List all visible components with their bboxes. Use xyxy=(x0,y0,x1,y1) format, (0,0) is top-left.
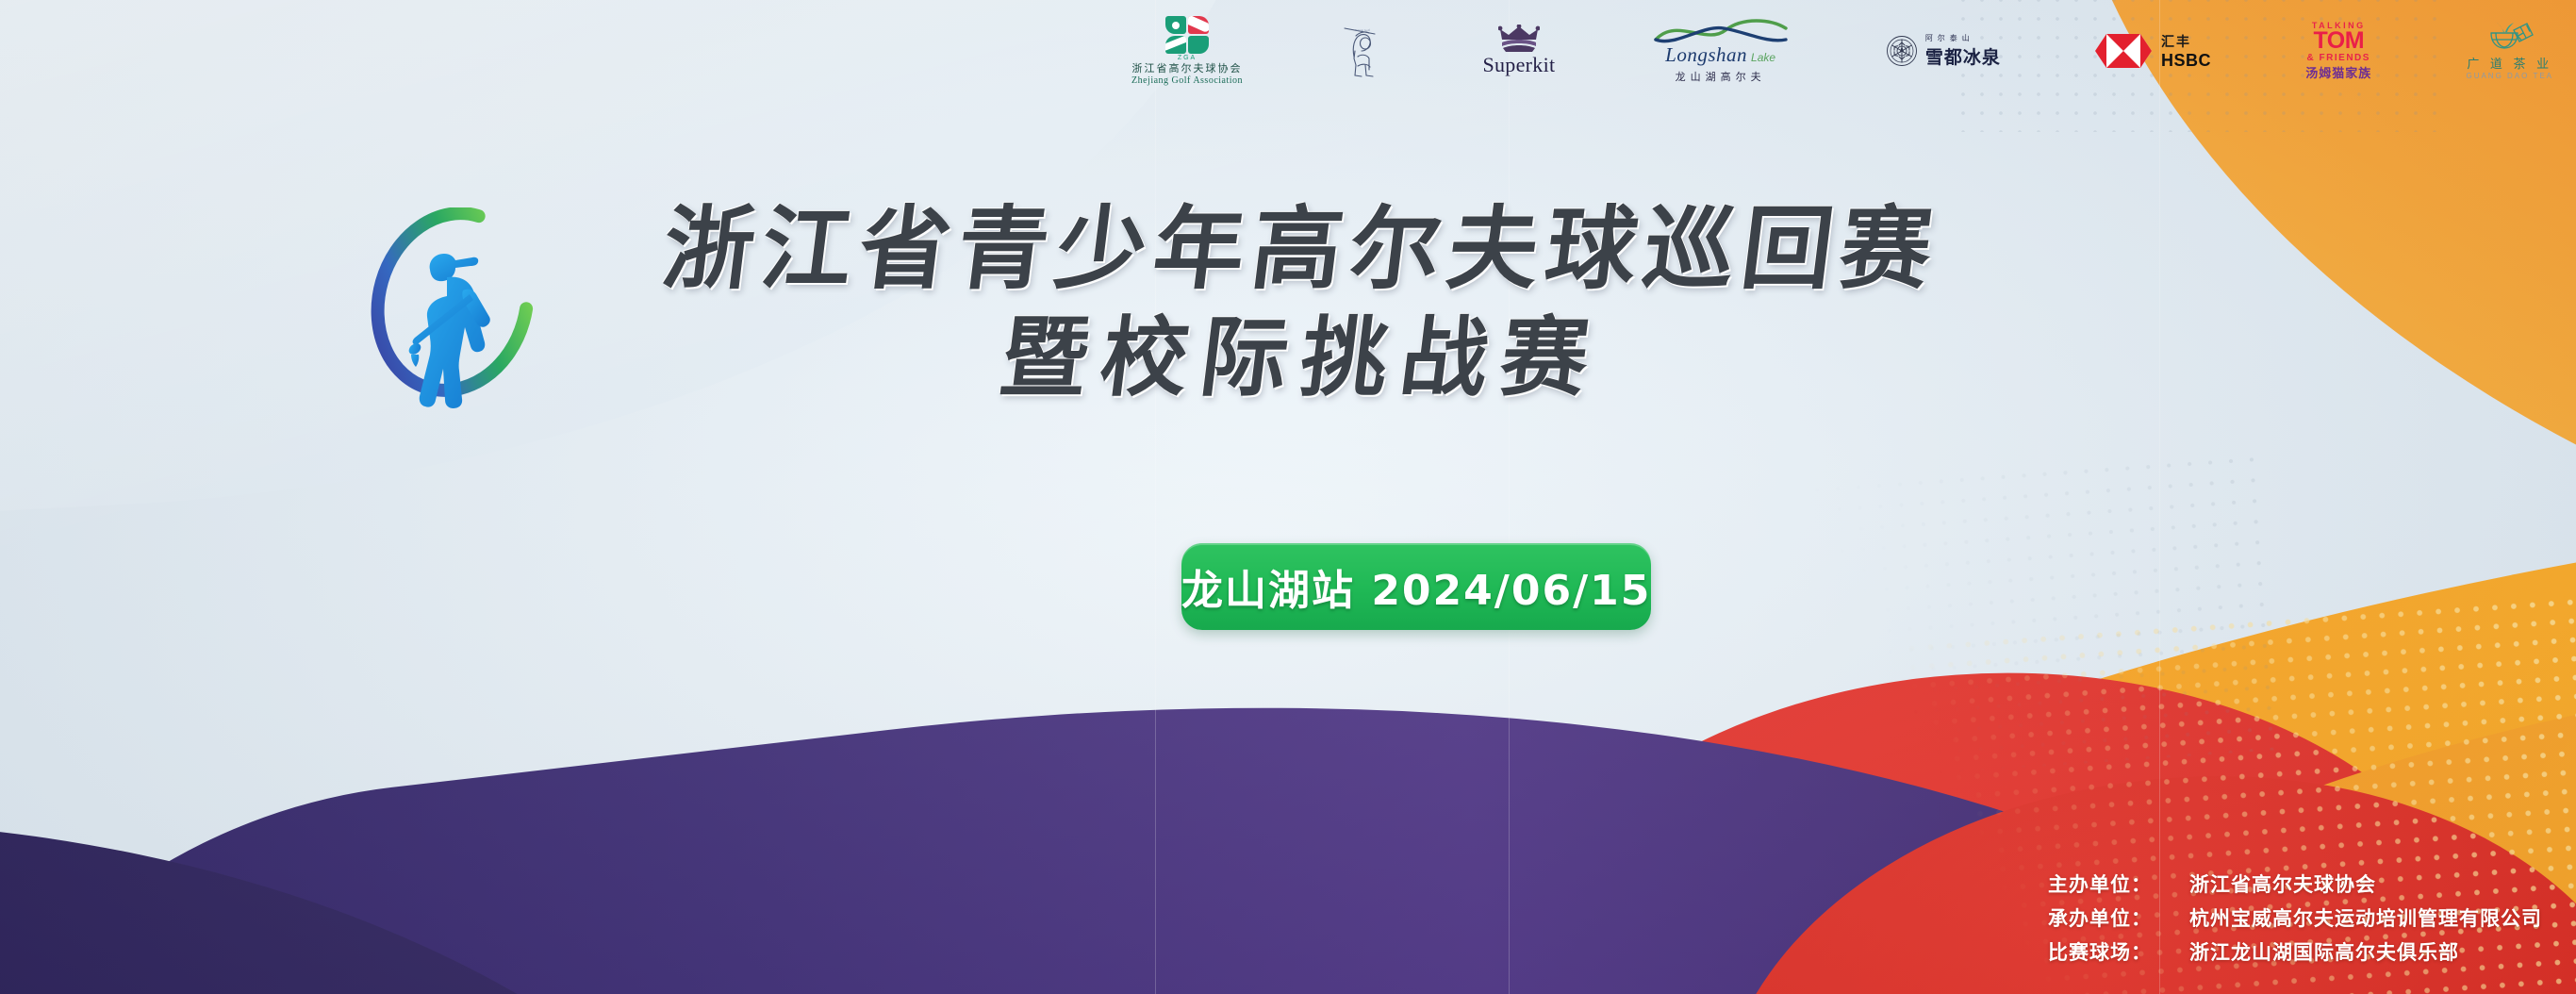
sponsor-logo-guang-dao-tea: 广 道 茶 业 GUANG DAO TEA xyxy=(2466,8,2553,94)
sponsor-logo-strip: ZGA 浙江省高尔夫球协会 Zhejiang Golf Association xyxy=(1122,6,2576,96)
date-badge-label: 龙山湖站 2024/06/15 xyxy=(1181,556,1651,617)
credit-row: 承办单位： 杭州宝威高尔夫运动培训管理有限公司 xyxy=(2048,903,2542,932)
event-title-line-1: 浙江省青少年高尔夫球巡回赛 xyxy=(559,198,2042,300)
credit-label-organizer: 主办单位： xyxy=(2048,870,2189,898)
talking-tom-wordmark: TOM xyxy=(2313,30,2364,53)
sponsor-logo-xuedu-bingquan: 阿尔泰山 雪都冰泉 xyxy=(1886,8,2001,94)
zga-abbr-label: ZGA xyxy=(1178,55,1197,61)
event-golfer-logo xyxy=(332,207,586,410)
sponsor-name-lake: Lake xyxy=(1751,51,1775,64)
sponsor-name-en: Zhejiang Golf Association xyxy=(1131,75,1243,87)
event-backdrop-banner: ZGA 浙江省高尔夫球协会 Zhejiang Golf Association xyxy=(0,0,2576,994)
sponsor-name-cn: 龙山湖高尔夫 xyxy=(1676,69,1766,84)
talking-tom-sub-label: & FRIENDS xyxy=(2307,53,2370,63)
sponsor-name-cn: 浙江省高尔夫球协会 xyxy=(1132,63,1243,75)
credit-row: 主办单位： 浙江省高尔夫球协会 xyxy=(2048,870,2542,898)
credit-value-organizer: 浙江省高尔夫球协会 xyxy=(2189,870,2376,898)
tea-cup-globe-icon xyxy=(2485,22,2535,54)
sponsor-name-cn-top: 阿尔泰山 xyxy=(1925,33,1974,43)
sponsor-name-cn: 雪都冰泉 xyxy=(1925,43,2001,69)
event-title-line-2: 暨校际挑战赛 xyxy=(559,306,2043,409)
golfer-lineart-caption: Private Golf xyxy=(1355,28,1371,32)
sponsor-name-cn: 汤姆猫家族 xyxy=(2305,63,2371,81)
sponsor-logo-golfer-lineart: Private Golf xyxy=(1337,8,1388,94)
credits-block: 主办单位： 浙江省高尔夫球协会 承办单位： 杭州宝威高尔夫运动培训管理有限公司 … xyxy=(2048,870,2542,971)
credit-label-co-organizer: 承办单位： xyxy=(2048,903,2189,932)
sponsor-logo-longshan-lake-golf: Longshan Lake 龙山湖高尔夫 xyxy=(1650,8,1792,94)
sponsor-logo-zhejiang-golf-association: ZGA 浙江省高尔夫球协会 Zhejiang Golf Association xyxy=(1131,8,1243,94)
date-badge: 龙山湖站 2024/06/15 xyxy=(1181,543,1651,630)
event-title-block: 浙江省青少年高尔夫球巡回赛 暨校际挑战赛 xyxy=(566,198,2037,409)
hsbc-hexagon-icon xyxy=(2095,34,2152,68)
snowflake-icon xyxy=(1886,35,1918,67)
sponsor-name-cn: 汇丰 xyxy=(2161,32,2191,51)
credit-label-venue: 比赛球场： xyxy=(2048,937,2189,966)
crown-icon xyxy=(1498,25,1540,53)
sponsor-name-cn: 广 道 茶 业 xyxy=(2467,54,2552,72)
background-artwork xyxy=(0,0,2576,994)
credit-row: 比赛球场： 浙江龙山湖国际高尔夫俱乐部 xyxy=(2048,937,2542,966)
sponsor-name-en: HSBC xyxy=(2161,51,2211,71)
sponsor-name-superkit: Superkit xyxy=(1482,53,1555,77)
sponsor-logo-superkit: Superkit xyxy=(1482,8,1555,94)
golfer-swing-icon: Private Golf xyxy=(1337,23,1388,79)
sponsor-name-en: GUANG DAO TEA xyxy=(2466,72,2553,80)
zga-emblem-icon xyxy=(1165,16,1209,54)
sponsor-name-longshan-script: Longshan xyxy=(1665,43,1747,67)
credit-value-co-organizer: 杭州宝威高尔夫运动培训管理有限公司 xyxy=(2189,903,2542,932)
sponsor-logo-talking-tom-and-friends: TALKING TOM & FRIENDS 汤姆猫家族 xyxy=(2305,8,2371,94)
credit-value-venue: 浙江龙山湖国际高尔夫俱乐部 xyxy=(2189,937,2459,966)
sponsor-logo-hsbc: 汇丰 HSBC xyxy=(2095,8,2211,94)
